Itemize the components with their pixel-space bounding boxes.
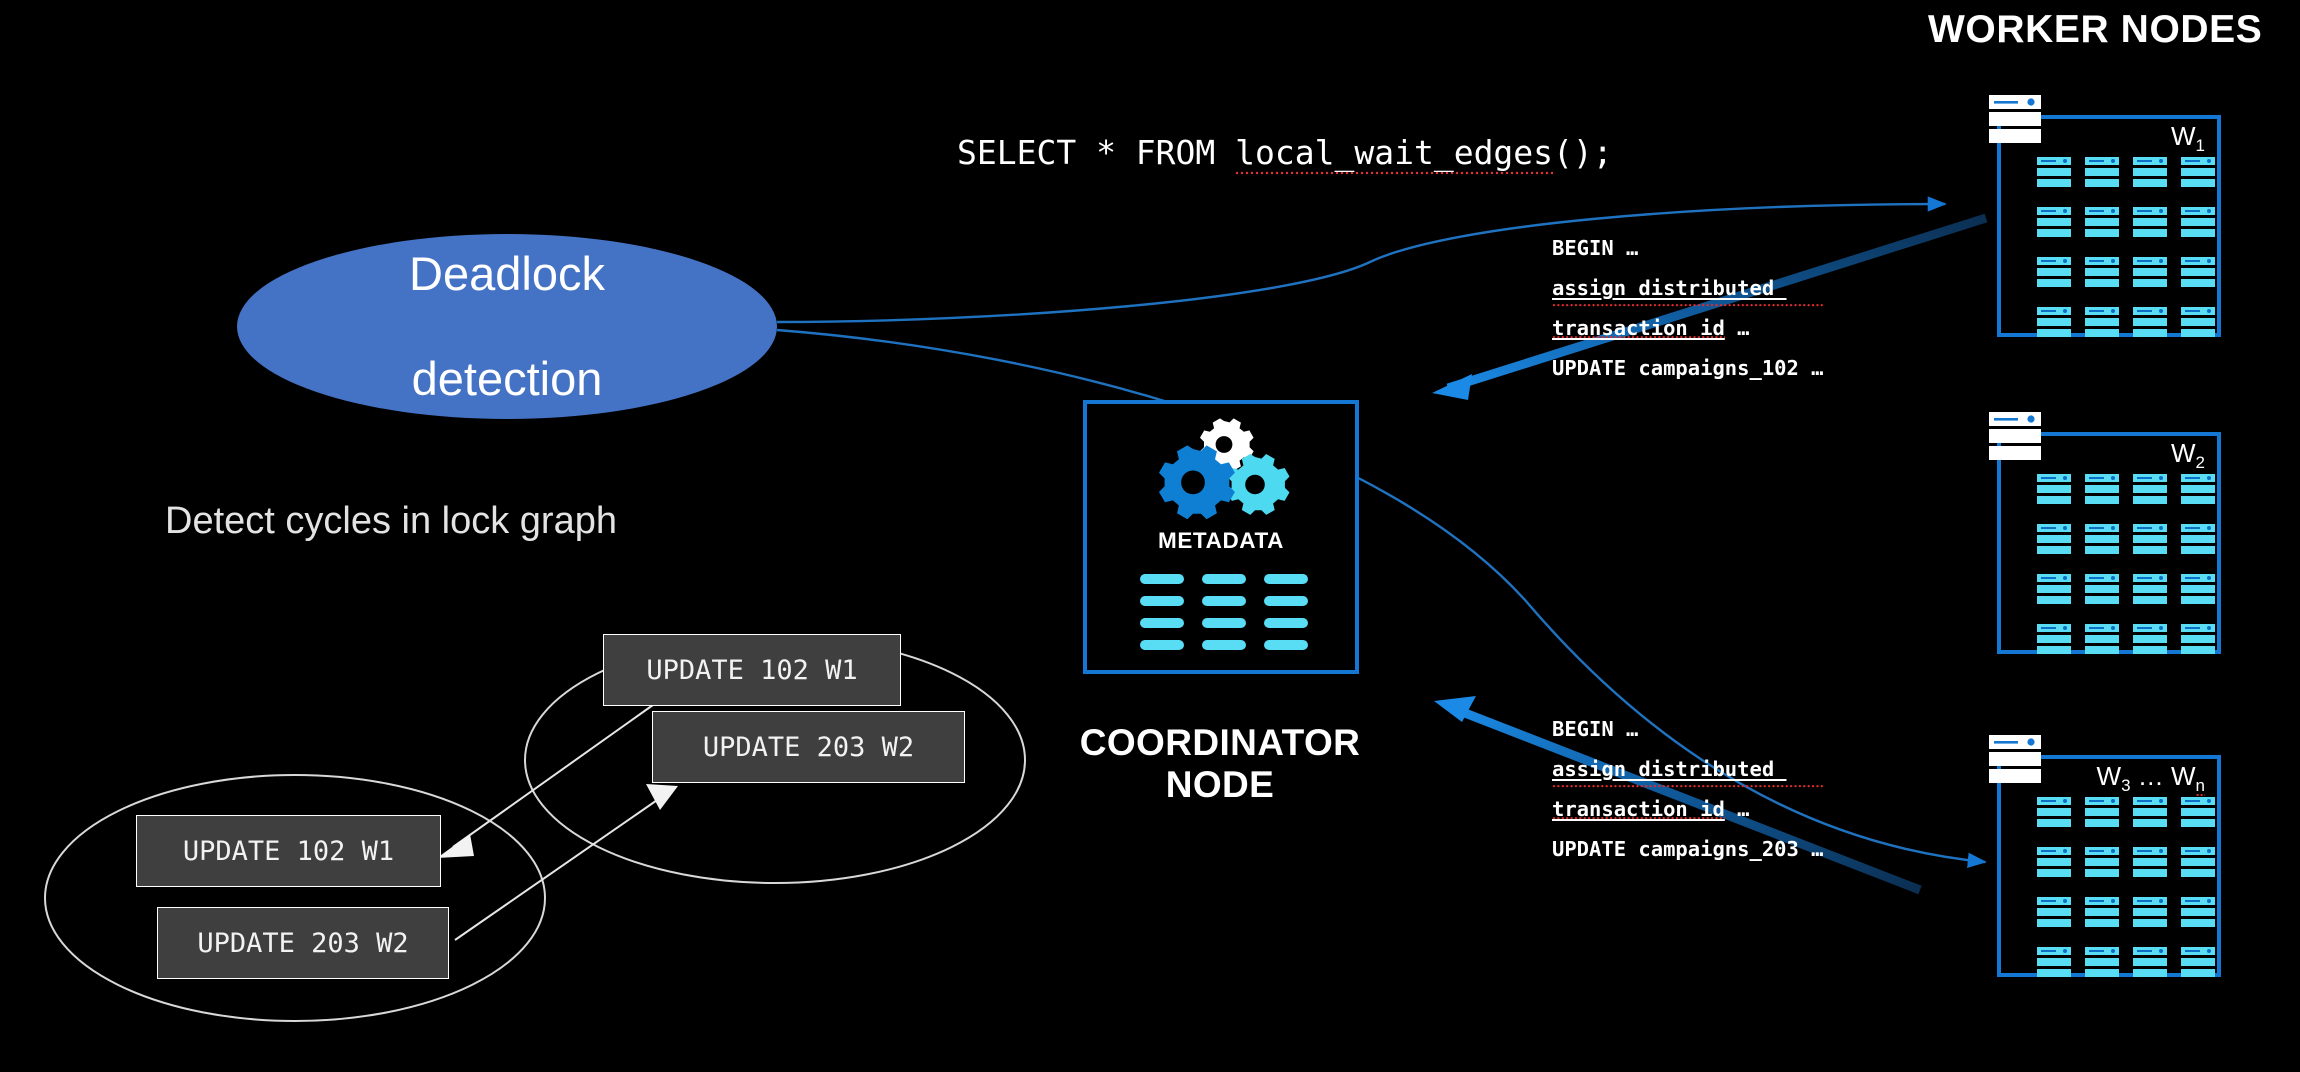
code-line: assign_distributed_ bbox=[1552, 268, 1824, 308]
lock-node-update-102-w1-lower: UPDATE 102 W1 bbox=[136, 815, 441, 887]
table-icon bbox=[2085, 897, 2119, 927]
table-icon bbox=[2133, 257, 2167, 287]
gears-icon-group bbox=[1148, 415, 1298, 525]
table-icon bbox=[2037, 897, 2071, 927]
table-icon bbox=[2181, 207, 2215, 237]
metadata-bar bbox=[1264, 618, 1308, 628]
table-icon bbox=[2037, 947, 2071, 977]
table-icon bbox=[2085, 307, 2119, 337]
table-icon bbox=[2181, 897, 2215, 927]
metadata-bar bbox=[1140, 574, 1184, 584]
code-line: transaction_id … bbox=[1552, 789, 1824, 829]
table-icon bbox=[2037, 207, 2071, 237]
table-icon bbox=[2133, 157, 2167, 187]
table-icon bbox=[2181, 257, 2215, 287]
detect-cycles-caption: Detect cycles in lock graph bbox=[165, 500, 617, 543]
code-tail: … bbox=[1725, 797, 1750, 821]
metadata-bar bbox=[1140, 618, 1184, 628]
metadata-bar bbox=[1202, 640, 1246, 650]
table-icon bbox=[2181, 307, 2215, 337]
lock-node-update-203-w2-lower: UPDATE 203 W2 bbox=[157, 907, 449, 979]
worker-label-text: W bbox=[2171, 438, 2196, 468]
table-icon bbox=[2037, 257, 2071, 287]
lock-node-update-102-w1-upper: UPDATE 102 W1 bbox=[603, 634, 901, 706]
metadata-bar bbox=[1202, 574, 1246, 584]
table-icon bbox=[2037, 474, 2071, 504]
table-icon bbox=[2085, 847, 2119, 877]
table-icon bbox=[2037, 847, 2071, 877]
code-line: UPDATE campaigns_203 … bbox=[1552, 829, 1824, 869]
table-icon bbox=[2181, 157, 2215, 187]
table-icon bbox=[2037, 524, 2071, 554]
table-icon bbox=[2085, 574, 2119, 604]
worker-label-suffix: … W bbox=[2131, 761, 2196, 791]
worker-label-sub: 3 bbox=[2121, 776, 2130, 795]
worker-label-sub2: n bbox=[2196, 776, 2205, 797]
server-icon bbox=[1989, 412, 2047, 464]
table-icon bbox=[2085, 947, 2119, 977]
table-icon bbox=[2037, 307, 2071, 337]
table-icon bbox=[2181, 574, 2215, 604]
code-line: assign_distributed_ bbox=[1552, 749, 1824, 789]
worker-nodes-title: WORKER NODES bbox=[1928, 8, 2262, 52]
metadata-bar bbox=[1264, 596, 1308, 606]
coordinator-title-line2: NODE bbox=[1060, 764, 1380, 806]
table-icon bbox=[2085, 157, 2119, 187]
table-icon bbox=[2085, 207, 2119, 237]
table-icon bbox=[2133, 207, 2167, 237]
table-icon bbox=[2181, 847, 2215, 877]
worker-node-2-table-grid bbox=[2037, 474, 2215, 654]
table-icon bbox=[2037, 157, 2071, 187]
table-icon bbox=[2133, 307, 2167, 337]
lock-node-update-203-w2-upper: UPDATE 203 W2 bbox=[652, 711, 965, 783]
worker-node-2-label: W2 bbox=[2171, 438, 2205, 473]
metadata-bar bbox=[1202, 596, 1246, 606]
worker-node-3-table-grid bbox=[2037, 797, 2215, 977]
table-icon bbox=[2085, 624, 2119, 654]
code-token: transaction_id bbox=[1552, 797, 1725, 821]
table-icon bbox=[2133, 847, 2167, 877]
table-icon bbox=[2133, 947, 2167, 977]
server-icon bbox=[1989, 735, 2047, 787]
code-block-worker3-transaction: BEGIN … assign_distributed_ transaction_… bbox=[1552, 709, 1824, 869]
metadata-bar bbox=[1140, 596, 1184, 606]
code-line: BEGIN … bbox=[1552, 228, 1824, 268]
table-icon bbox=[2133, 897, 2167, 927]
metadata-bar bbox=[1202, 618, 1246, 628]
worker-label-text: W bbox=[2171, 121, 2196, 151]
metadata-label: METADATA bbox=[1083, 528, 1359, 554]
table-icon bbox=[2037, 797, 2071, 827]
sql-function-name: local_wait_edges bbox=[1235, 133, 1553, 175]
table-icon bbox=[2133, 797, 2167, 827]
metadata-bars-grid bbox=[1140, 574, 1308, 650]
worker-label-sub: 2 bbox=[2196, 453, 2205, 472]
code-block-worker1-transaction: BEGIN … assign_distributed_ transaction_… bbox=[1552, 228, 1824, 388]
worker-label-sub: 1 bbox=[2196, 136, 2205, 155]
deadlock-detection-node: Deadlock detection bbox=[237, 234, 777, 419]
worker-node-2: W2 bbox=[1989, 412, 2221, 654]
code-line: BEGIN … bbox=[1552, 709, 1824, 749]
worker-node-1: W1 bbox=[1989, 95, 2221, 337]
server-icon bbox=[1989, 95, 2047, 147]
table-icon bbox=[2085, 474, 2119, 504]
metadata-bar bbox=[1264, 640, 1308, 650]
deadlock-label-line1: Deadlock bbox=[409, 248, 605, 301]
metadata-bar bbox=[1140, 640, 1184, 650]
table-icon bbox=[2181, 624, 2215, 654]
table-icon bbox=[2181, 797, 2215, 827]
worker-node-3-label: W3 … Wn bbox=[2097, 761, 2205, 796]
coordinator-node-title: COORDINATOR NODE bbox=[1060, 722, 1380, 806]
worker-label-text: W bbox=[2097, 761, 2122, 791]
table-icon bbox=[2181, 524, 2215, 554]
code-line: transaction_id … bbox=[1552, 308, 1824, 348]
coordinator-title-line1: COORDINATOR bbox=[1060, 722, 1380, 764]
table-icon bbox=[2085, 257, 2119, 287]
table-icon bbox=[2085, 797, 2119, 827]
table-icon bbox=[2181, 474, 2215, 504]
table-icon bbox=[2133, 524, 2167, 554]
code-tail: … bbox=[1725, 316, 1750, 340]
sql-suffix: (); bbox=[1553, 133, 1613, 172]
table-icon bbox=[2133, 624, 2167, 654]
metadata-bar bbox=[1264, 574, 1308, 584]
worker-node-1-label: W1 bbox=[2171, 121, 2205, 156]
sql-header-statement: SELECT * FROM local_wait_edges(); bbox=[957, 133, 1613, 172]
code-line: UPDATE campaigns_102 … bbox=[1552, 348, 1824, 388]
deadlock-detection-label: Deadlock detection bbox=[409, 248, 605, 406]
deadlock-label-line2: detection bbox=[409, 353, 605, 406]
worker-node-1-table-grid bbox=[2037, 157, 2215, 337]
content-layer: WORKER NODES COORDINATOR NODE SELECT * F… bbox=[0, 0, 2300, 1072]
worker-node-3: W3 … Wn bbox=[1989, 735, 2221, 977]
table-icon bbox=[2085, 524, 2119, 554]
table-icon bbox=[2037, 574, 2071, 604]
table-icon bbox=[2133, 474, 2167, 504]
table-icon bbox=[2133, 574, 2167, 604]
diagram-canvas: WORKER NODES COORDINATOR NODE SELECT * F… bbox=[0, 0, 2300, 1072]
table-icon bbox=[2181, 947, 2215, 977]
table-icon bbox=[2037, 624, 2071, 654]
sql-prefix: SELECT * FROM bbox=[957, 133, 1235, 172]
code-token: transaction_id bbox=[1552, 316, 1725, 340]
